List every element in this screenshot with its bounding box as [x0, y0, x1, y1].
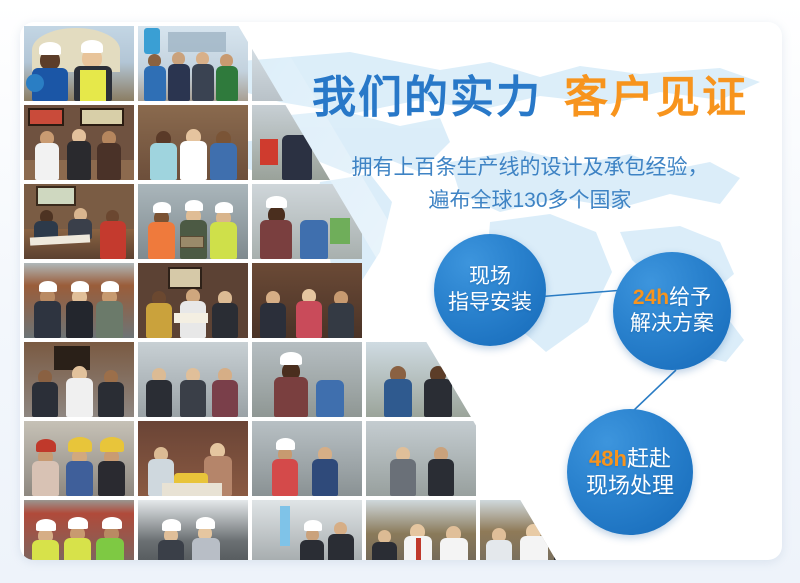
circle2-line-2: 解决方案	[630, 311, 714, 337]
photo-team-portrait	[480, 500, 590, 560]
photo-three-men-lobby	[138, 105, 248, 180]
photo-vip-vests	[24, 500, 134, 560]
circle-48h-onsite[interactable]: 48h赶赴 现场处理	[567, 409, 693, 535]
photo-helmet-inspection	[252, 421, 362, 496]
photo-site-worker-dark	[252, 342, 362, 417]
circle2-highlight: 24h	[633, 286, 669, 309]
circle3-highlight: 48h	[589, 446, 627, 471]
circle3-line-1: 48h赶赴	[589, 445, 671, 473]
photo-office-handshake	[24, 105, 134, 180]
photo-banquet-handshake	[138, 421, 248, 496]
subtitle: 拥有上百条生产线的设计及承包经验， 遍布全球130多个国家	[275, 152, 782, 217]
photo-group-hall	[252, 263, 362, 338]
circle2-line-1: 24h给予	[633, 285, 711, 311]
circle-on-site-installation[interactable]: 现场 指导安装	[434, 234, 546, 346]
photo-delegation-indoor	[24, 342, 134, 417]
circle-24h-solution[interactable]: 24h给予 解决方案	[613, 252, 731, 370]
photo-colored-helmets	[24, 421, 134, 496]
circle3-line-1-rest: 赶赴	[627, 446, 671, 471]
subtitle-line-2: 遍布全球130多个国家	[275, 185, 782, 218]
circle1-line-2: 指导安装	[448, 290, 532, 316]
photo-executives-group	[366, 500, 476, 560]
page-title: 我们的实力客户见证	[280, 74, 780, 122]
circle1-line-1: 现场	[469, 264, 511, 290]
photo-workshop-visit	[366, 421, 476, 496]
photo-conference-table	[24, 184, 134, 259]
subtitle-line-1: 拥有上百条生产线的设计及承包经验，	[275, 152, 782, 185]
photo-certificate-handover	[138, 263, 248, 338]
photo-women-delegation	[138, 342, 248, 417]
promo-banner: 我们的实力客户见证 拥有上百条生产线的设计及承包经验， 遍布全球130多个国家 …	[0, 0, 800, 583]
circle2-line-1-rest: 给予	[669, 286, 711, 309]
circle3-line-2: 现场处理	[586, 472, 674, 500]
photo-plant-interior-pair	[138, 500, 248, 560]
photo-plant-team	[138, 26, 248, 101]
headline-orange-text: 客户见证	[564, 73, 748, 122]
photo-award-helmets	[138, 184, 248, 259]
photo-engineers-gear	[24, 26, 134, 101]
photo-outdoor-pair	[366, 342, 476, 417]
photo-machine-hall	[252, 500, 362, 560]
photo-factory-floor-trio	[24, 263, 134, 338]
headline-blue-text: 我们的实力	[312, 73, 542, 122]
